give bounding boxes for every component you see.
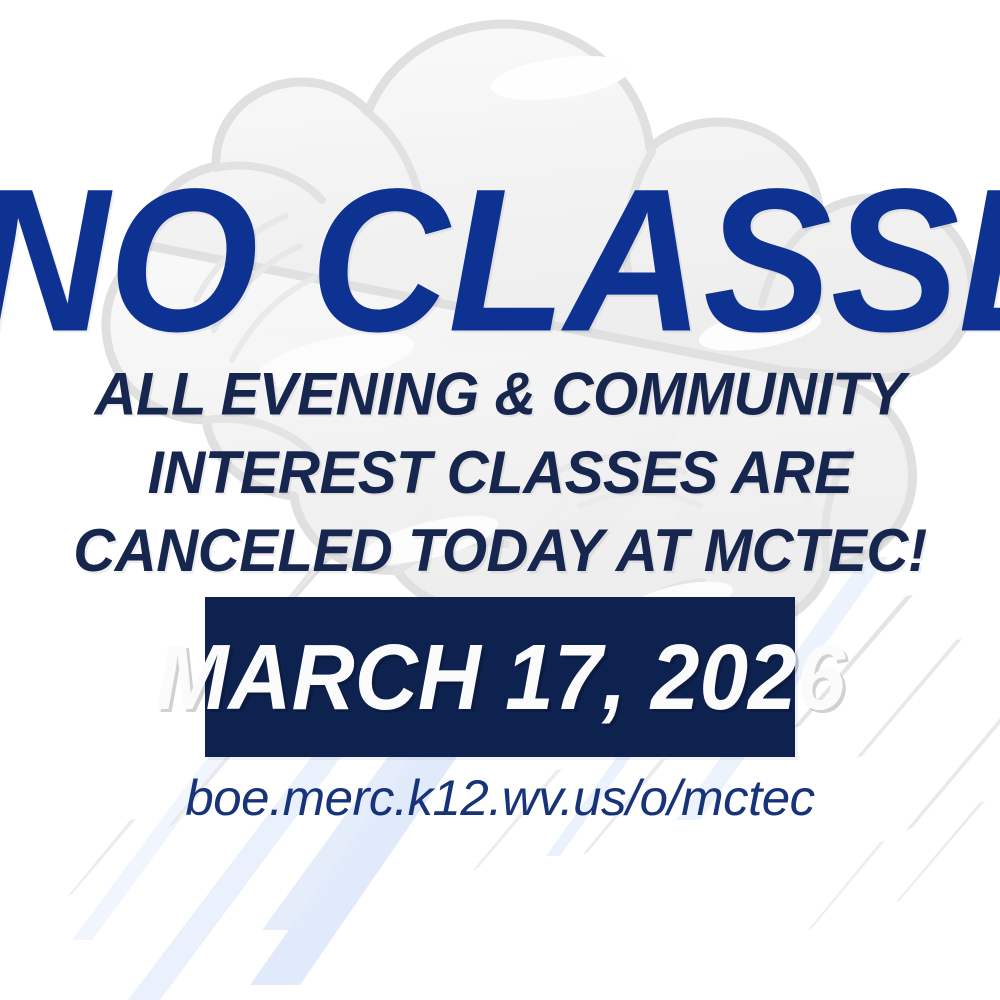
subhead-block: ALL EVENING & COMMUNITY INTEREST CLASSES… <box>0 355 1000 590</box>
subhead-line-2: INTEREST CLASSES ARE <box>0 433 1000 511</box>
poster-canvas: NO CLASSES ALL EVENING & COMMUNITY INTER… <box>0 0 1000 1000</box>
subhead-line-1: ALL EVENING & COMMUNITY <box>0 355 1000 433</box>
date-text: MARCH 17, 2026 <box>155 631 844 723</box>
date-banner: MARCH 17, 2026 <box>205 597 795 757</box>
subhead-line-3: CANCELED TODAY AT MCTEC! <box>0 512 1000 590</box>
page-title: NO CLASSES <box>0 158 1000 362</box>
website-url[interactable]: boe.merc.k12.wv.us/o/mctec <box>0 768 1000 828</box>
poster-content: NO CLASSES ALL EVENING & COMMUNITY INTER… <box>0 0 1000 1000</box>
